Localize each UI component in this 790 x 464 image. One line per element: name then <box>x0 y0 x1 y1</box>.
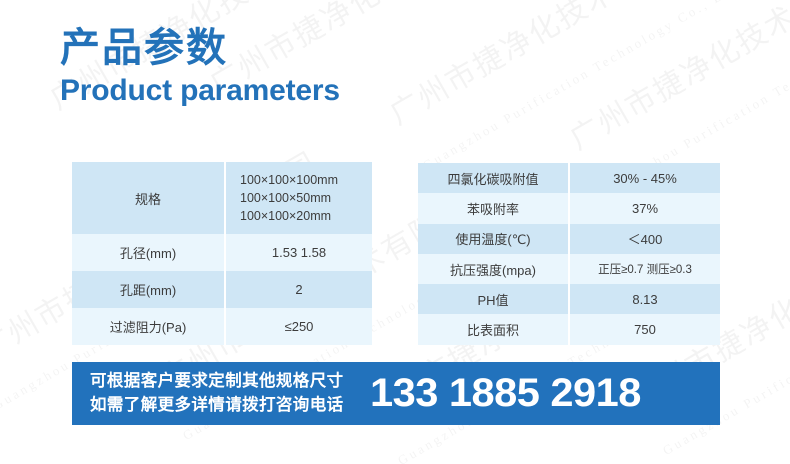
table-row: 孔距(mm)2 <box>72 271 372 308</box>
banner-message: 可根据客户要求定制其他规格尺寸 如需了解更多详情请拨打咨询电话 <box>86 370 344 417</box>
row-value: 30% - 45% <box>568 163 720 193</box>
row-value: ≤250 <box>224 308 372 345</box>
row-label: 规格 <box>72 162 224 234</box>
row-label: 过滤阻力(Pa) <box>72 308 224 345</box>
table-row: 使用温度(℃)＜400 <box>418 224 720 254</box>
table-row: 孔径(mm)1.53 1.58 <box>72 234 372 271</box>
page-title-cn: 产品参数 <box>60 26 340 71</box>
table-row: 苯吸附率37% <box>418 193 720 223</box>
watermark-text: 广州市捷净化技术有限公司 <box>380 0 735 133</box>
table-row: 比表面积750 <box>418 314 720 344</box>
row-label: PH值 <box>418 284 568 314</box>
row-value: 750 <box>568 314 720 344</box>
table-row: PH值8.13 <box>418 284 720 314</box>
watermark-text: 广州市捷净化技术有限公司 <box>560 0 790 158</box>
row-label: 使用温度(℃) <box>418 224 568 254</box>
row-label: 孔距(mm) <box>72 271 224 308</box>
page-title-en: Product parameters <box>60 73 340 108</box>
row-value: 37% <box>568 193 720 223</box>
table-row: 规格100×100×100mm 100×100×50mm 100×100×20m… <box>72 162 372 234</box>
right-parameter-table: 四氯化碳吸附值30% - 45%苯吸附率37%使用温度(℃)＜400抗压强度(m… <box>418 163 720 345</box>
left-table-body: 规格100×100×100mm 100×100×50mm 100×100×20m… <box>72 162 372 345</box>
watermark-text-en: Guangzhou Purification Technology Co., L… <box>420 0 741 174</box>
banner-phone-number: 133 1885 2918 <box>370 371 641 416</box>
row-value: 2 <box>224 271 372 308</box>
left-parameter-table: 规格100×100×100mm 100×100×50mm 100×100×20m… <box>72 162 372 345</box>
table-row: 抗压强度(mpa)正压≥0.7 测压≥0.3 <box>418 254 720 284</box>
row-value: 正压≥0.7 测压≥0.3 <box>568 254 720 284</box>
row-label: 抗压强度(mpa) <box>418 254 568 284</box>
right-table-body: 四氯化碳吸附值30% - 45%苯吸附率37%使用温度(℃)＜400抗压强度(m… <box>418 163 720 345</box>
row-label: 比表面积 <box>418 314 568 344</box>
contact-banner: 可根据客户要求定制其他规格尺寸 如需了解更多详情请拨打咨询电话 133 1885… <box>72 362 720 425</box>
row-value: 100×100×100mm 100×100×50mm 100×100×20mm <box>224 162 372 234</box>
table-row: 过滤阻力(Pa)≤250 <box>72 308 372 345</box>
row-value: ＜400 <box>568 224 720 254</box>
row-label: 四氯化碳吸附值 <box>418 163 568 193</box>
row-label: 苯吸附率 <box>418 193 568 223</box>
row-value: 8.13 <box>568 284 720 314</box>
row-label: 孔径(mm) <box>72 234 224 271</box>
row-value: 1.53 1.58 <box>224 234 372 271</box>
page-title: 产品参数 Product parameters <box>60 26 340 108</box>
table-row: 四氯化碳吸附值30% - 45% <box>418 163 720 193</box>
